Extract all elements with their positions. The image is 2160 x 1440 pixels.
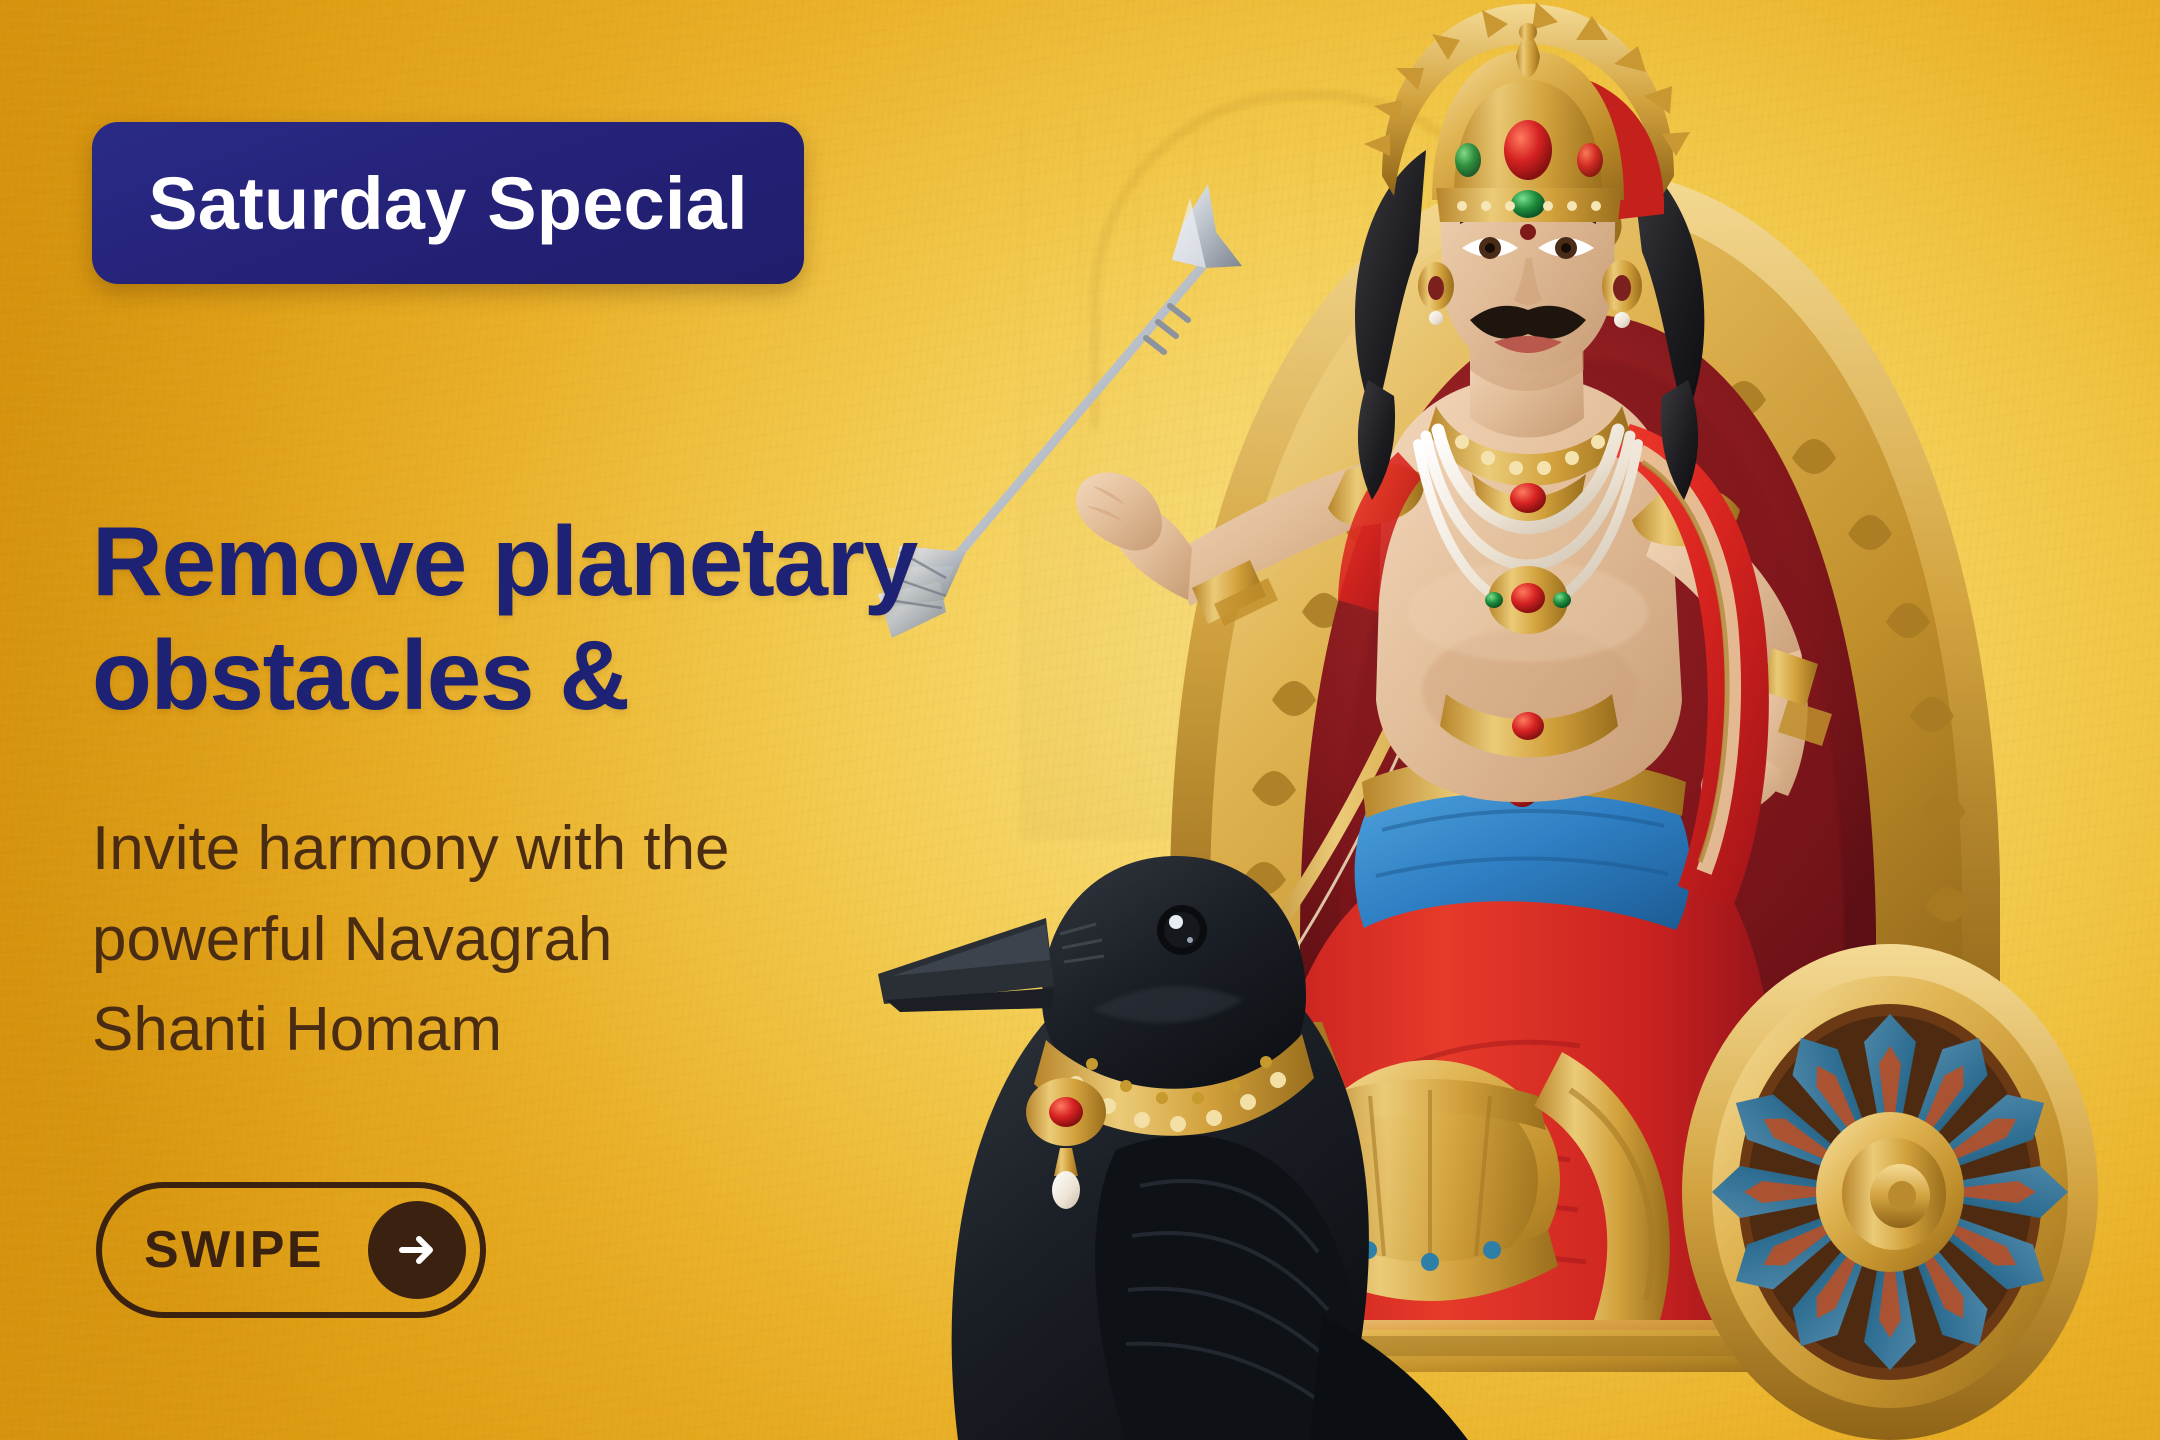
headline-line-1: Remove planetary [92, 504, 1022, 619]
swipe-button-label: SWIPE [144, 1220, 368, 1280]
content-column: Saturday Special Remove planetary obstac… [0, 0, 1060, 1440]
swipe-button[interactable]: SWIPE [96, 1182, 486, 1318]
subhead-line-1: Invite harmony with the [92, 804, 952, 895]
page-subtitle: Invite harmony with the powerful Navagra… [92, 804, 952, 1076]
headline-line-2: obstacles & [92, 618, 1022, 733]
subhead-line-2: powerful Navagrah [92, 895, 952, 986]
chariot-wheel [1682, 944, 2098, 1440]
saturday-special-badge: Saturday Special [92, 122, 804, 284]
promo-banner: Saturday Special Remove planetary obstac… [0, 0, 2160, 1440]
subhead-line-3: Shanti Homam [92, 985, 952, 1076]
arrow-right-icon [391, 1224, 443, 1276]
hero-illustration [870, 0, 2160, 1440]
page-title: Remove planetary obstacles & [92, 504, 1022, 733]
swipe-arrow-circle[interactable] [368, 1201, 466, 1299]
badge-label: Saturday Special [148, 161, 748, 246]
